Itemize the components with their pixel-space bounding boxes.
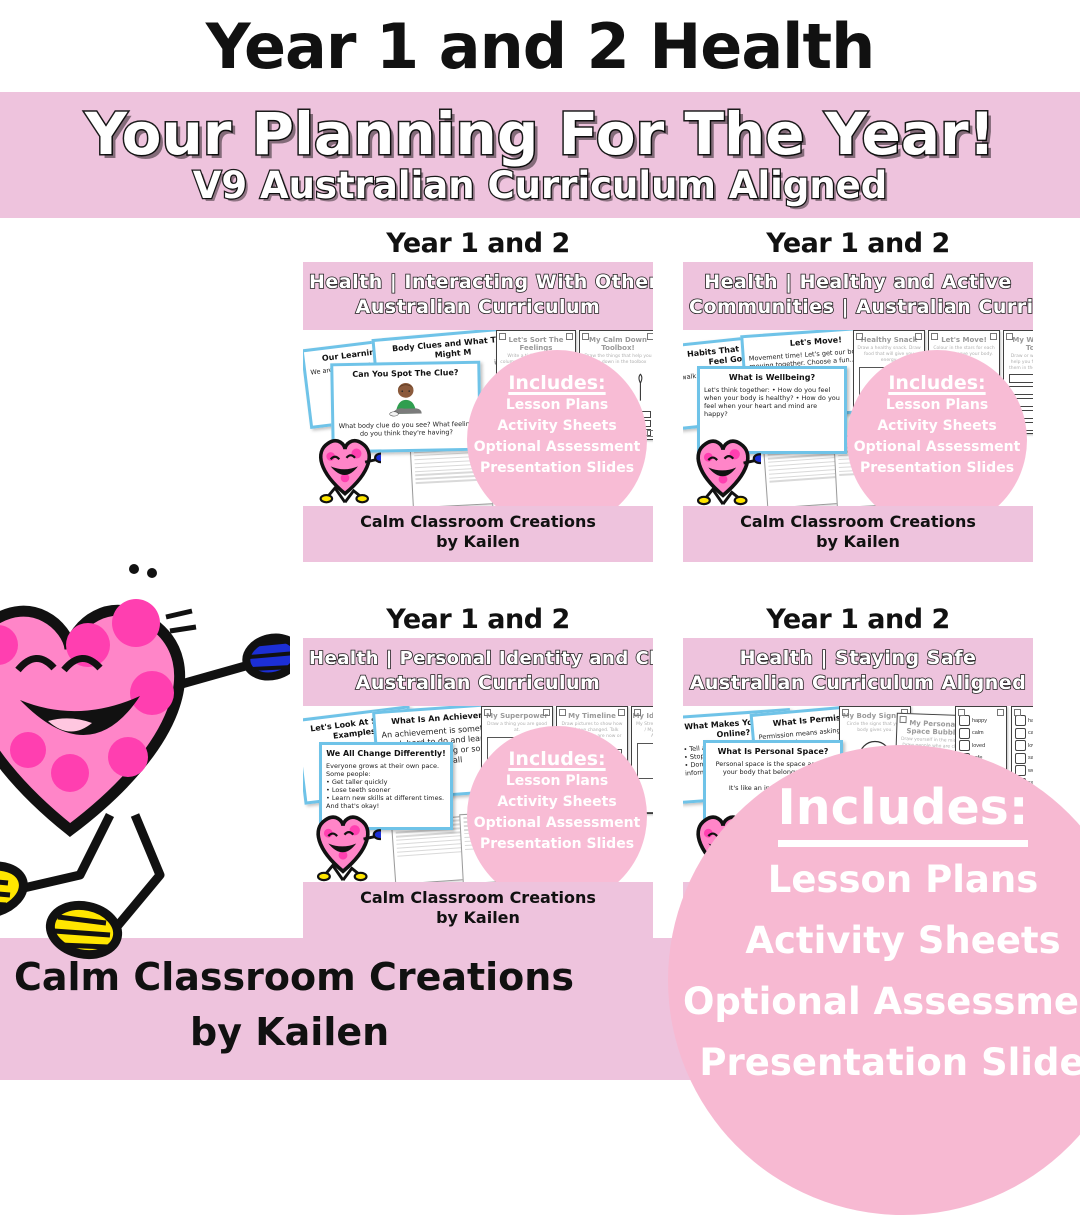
card-frame: Health | Healthy and Active Communities … xyxy=(683,262,1033,562)
card-header-line-2: Australian Curriculum Aligned xyxy=(689,671,1027,696)
includes-title: Includes: xyxy=(467,748,647,770)
card-year-label: Year 1 and 2 xyxy=(683,604,1033,638)
card-footer: Calm Classroom Creations by Kailen xyxy=(303,506,653,562)
includes-item: Optional Assessment xyxy=(467,814,647,833)
feeling-label: loved xyxy=(1028,743,1033,749)
product-card-healthy-and-active-communities[interactable]: Year 1 and 2 Health | Healthy and Active… xyxy=(683,228,1033,562)
card-preview-stage: Let's Look At Some Examples What Is An A… xyxy=(303,706,653,882)
includes-bubble: Includes: Lesson Plans Activity Sheets O… xyxy=(467,726,647,882)
feeling-label: calm xyxy=(972,730,984,736)
includes-title: Includes: xyxy=(467,372,647,394)
card-year-label: Year 1 and 2 xyxy=(683,228,1033,262)
slide-title: What is Wellbeing? xyxy=(704,373,840,383)
card-footer: Calm Classroom Creations by Kailen xyxy=(683,506,1033,562)
card-header-line-2: Communities | Australian Curriculum xyxy=(689,295,1027,320)
mitten-right xyxy=(242,632,290,681)
feeling-label: happy xyxy=(1028,718,1033,724)
includes-bubble: Includes: Lesson Plans Activity Sheets O… xyxy=(847,350,1027,506)
card-header-line-1: Health | Personal Identity and Change xyxy=(309,646,647,671)
card-header: Health | Interacting With Others | Austr… xyxy=(303,262,653,330)
card-footer: Calm Classroom Creations by Kailen xyxy=(303,882,653,938)
card-header-line-1: Health | Interacting With Others | xyxy=(309,270,647,295)
card-footer-brand: Calm Classroom Creations xyxy=(303,888,653,908)
includes-bubble: Includes: Lesson Plans Activity Sheets O… xyxy=(467,350,647,506)
big-includes-item: Presentation Slides xyxy=(668,1034,1080,1091)
includes-item: Presentation Slides xyxy=(467,835,647,854)
big-includes-item: Activity Sheets xyxy=(668,912,1080,969)
worksheet-title: Let's Move! xyxy=(929,336,999,344)
includes-item: Activity Sheets xyxy=(847,417,1027,436)
slide-title: Can You Spot The Clue? xyxy=(337,368,473,380)
footer-author: by Kailen xyxy=(190,1010,389,1054)
shoe-left xyxy=(0,859,29,921)
hero-banner-headline: Your Planning For The Year! xyxy=(85,104,995,164)
big-includes-title: Includes: xyxy=(778,779,1029,847)
slide-title: We All Change Differently! xyxy=(326,749,446,759)
card-header: Health | Staying Safe Australian Curricu… xyxy=(683,638,1033,706)
card-header-line-1: Health | Healthy and Active xyxy=(689,270,1027,295)
card-header: Health | Personal Identity and Change Au… xyxy=(303,638,653,706)
card-frame: Health | Personal Identity and Change Au… xyxy=(303,638,653,938)
eye-dot xyxy=(129,564,139,574)
hair-lines xyxy=(166,611,196,631)
includes-item: Optional Assessment xyxy=(467,438,647,457)
feeling-label: happy xyxy=(972,718,987,724)
includes-item: Lesson Plans xyxy=(847,396,1027,415)
feeling-label: safe xyxy=(1028,755,1033,761)
heart-mascot xyxy=(0,545,290,965)
feeling-label: loved xyxy=(972,743,985,749)
card-header-line-2: Australian Curriculum xyxy=(309,295,647,320)
big-includes-callout: Includes: Lesson Plans Activity Sheets O… xyxy=(668,745,1080,1215)
card-frame: Health | Interacting With Others | Austr… xyxy=(303,262,653,562)
worksheet-title: Healthy Snack xyxy=(854,336,924,344)
includes-item: Activity Sheets xyxy=(467,417,647,436)
card-year-label: Year 1 and 2 xyxy=(303,228,653,262)
includes-item: Lesson Plans xyxy=(467,396,647,415)
card-year-label: Year 1 and 2 xyxy=(303,604,653,638)
feeling-label: worried xyxy=(1028,768,1033,774)
includes-item: Lesson Plans xyxy=(467,772,647,791)
card-footer-author: by Kailen xyxy=(303,908,653,928)
big-includes-item: Lesson Plans xyxy=(668,851,1080,908)
includes-item: Presentation Slides xyxy=(847,459,1027,478)
worksheet-title: My Superpower xyxy=(482,712,552,720)
mini-heart-mascot-icon xyxy=(685,422,761,506)
page-title-text: Year 1 and 2 Health xyxy=(206,10,874,83)
mini-heart-mascot-icon xyxy=(309,422,381,506)
product-card-interacting-with-others[interactable]: Year 1 and 2 Health | Interacting With O… xyxy=(303,228,653,562)
card-footer-brand: Calm Classroom Creations xyxy=(683,512,1033,532)
card-header-line-2: Australian Curriculum xyxy=(309,671,647,696)
shoe-right xyxy=(46,899,122,960)
page-title: Year 1 and 2 Health xyxy=(0,0,1080,92)
slide-body: Let's think together: • How do you feel … xyxy=(704,386,840,418)
product-card-personal-identity-and-change[interactable]: Year 1 and 2 Health | Personal Identity … xyxy=(303,604,653,938)
card-footer-author: by Kailen xyxy=(683,532,1033,552)
hero-banner: Your Planning For The Year! V9 Australia… xyxy=(0,92,1080,218)
worksheet-title: My Timeline xyxy=(557,712,627,720)
seated-child-illustration xyxy=(380,380,433,419)
card-preview-stage: Our Learning Inte We are learning who to… xyxy=(303,330,653,506)
includes-title: Includes: xyxy=(847,372,1027,394)
feeling-label: calm xyxy=(1028,730,1033,736)
card-header-line-1: Health | Staying Safe xyxy=(689,646,1027,671)
card-footer-brand: Calm Classroom Creations xyxy=(303,512,653,532)
eye-dot xyxy=(147,568,157,578)
worksheet-subtitle: Draw or write things that help you feel … xyxy=(1004,354,1033,372)
slide-title: What Is Personal Space? xyxy=(710,747,836,757)
worksheet-subtitle: My Strengths / My Changes / My Favourite… xyxy=(632,722,653,740)
card-footer-author: by Kailen xyxy=(303,532,653,552)
mini-heart-mascot-icon xyxy=(305,798,381,882)
card-header: Health | Healthy and Active Communities … xyxy=(683,262,1033,330)
includes-item: Activity Sheets xyxy=(467,793,647,812)
hero-banner-subheadline: V9 Australian Curriculum Aligned xyxy=(193,166,888,206)
includes-item: Presentation Slides xyxy=(467,459,647,478)
includes-item: Optional Assessment xyxy=(847,438,1027,457)
worksheet-title: My Calm Down Toolbox! xyxy=(580,336,653,352)
big-includes-item: Optional Assessment xyxy=(668,973,1080,1030)
card-preview-stage: Habits That Help Us Feel Good! walk, sle… xyxy=(683,330,1033,506)
